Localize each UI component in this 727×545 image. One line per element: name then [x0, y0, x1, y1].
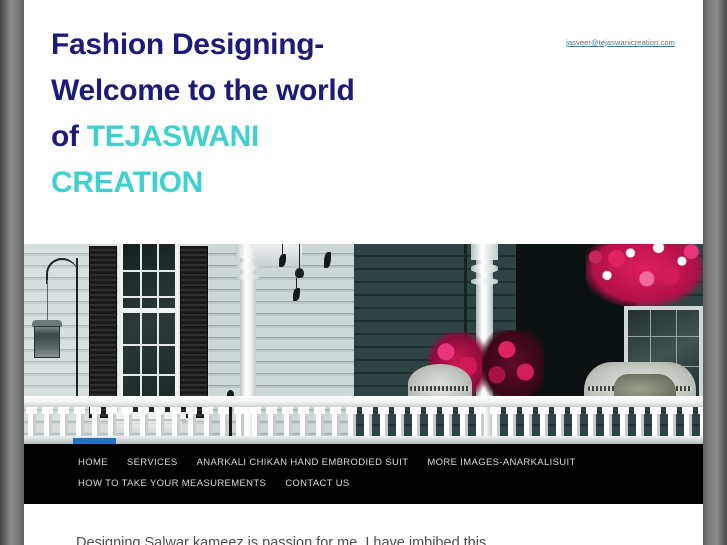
porch-column-left-ring-2 — [236, 274, 260, 280]
flower-pot-pink-center — [482, 330, 544, 400]
window-shutter-left — [89, 246, 117, 418]
main-navigation: HOME SERVICES ANARKALI CHIKAN HAND EMBRO… — [24, 444, 703, 504]
brand-name-creation: CREATION — [51, 166, 203, 199]
window-mullion-horizontal-2 — [123, 296, 175, 298]
page-title: Fashion Designing- Welcome to the world … — [51, 22, 471, 206]
lantern — [34, 326, 60, 358]
window-mullion-horizontal-1 — [123, 270, 175, 272]
hanging-flower-basket-petunias — [586, 244, 703, 306]
email-link[interactable]: jasveer@tejaswanicreation.com — [566, 38, 675, 47]
nav-item-more-images-anarkalisuit[interactable]: MORE IMAGES-ANARKALISUIT — [427, 452, 575, 473]
page-title-line-2: Welcome to the world — [51, 74, 354, 107]
wicker-chair-left-trim — [410, 386, 470, 391]
nav-item-services[interactable]: SERVICES — [127, 452, 178, 473]
porch-column-center-ring-1 — [471, 264, 498, 273]
nav-row-1: HOME SERVICES ANARKALI CHIKAN HAND EMBRO… — [24, 452, 703, 473]
window-meeting-rail — [123, 308, 175, 313]
porch-baluster-caps — [24, 407, 703, 414]
shepherd-hook-arm — [46, 258, 78, 284]
hero-banner-porch-photo — [24, 244, 703, 444]
nav-item-home[interactable]: HOME — [78, 452, 108, 473]
brand-name-tejaswani: TEJASWANI — [87, 120, 259, 153]
page-title-line-3-prefix: of — [51, 120, 87, 153]
porch-window-grid-h-1 — [628, 336, 699, 337]
window-shutter-right — [180, 246, 208, 418]
nav-item-anarkali-chikan-hand-embrodied-suit[interactable]: ANARKALI CHIKAN HAND EMBRODIED SUIT — [197, 452, 409, 473]
window-mullion-horizontal-4 — [123, 374, 175, 376]
site-container: jasveer@tejaswanicreation.com Fashion De… — [24, 0, 703, 545]
porch-railing-bottom — [24, 436, 703, 444]
page-gutter-right — [703, 0, 727, 545]
nav-row-2: HOW TO TAKE YOUR MEASUREMENTS CONTACT US — [24, 473, 703, 494]
porch-column-center-cap — [471, 244, 498, 260]
nav-item-contact-us[interactable]: CONTACT US — [285, 473, 349, 494]
porch-trim-bracket — [254, 244, 302, 266]
hanging-wire-3 — [296, 278, 297, 288]
porch-railing-top — [24, 396, 703, 407]
hanging-wire-1 — [282, 244, 283, 254]
main-content: Designing Salwar kameez is passion for m… — [24, 504, 703, 545]
site-header: jasveer@tejaswanicreation.com Fashion De… — [24, 0, 703, 244]
hanging-bell — [295, 268, 304, 278]
intro-paragraph: Designing Salwar kameez is passion for m… — [76, 530, 663, 545]
hero-accent-bar[interactable] — [73, 438, 116, 444]
hanging-wire-2 — [299, 244, 300, 268]
page-title-line-1: Fashion Designing- — [51, 28, 324, 61]
porch-column-center-ring-2 — [471, 278, 498, 285]
nav-item-how-to-take-your-measurements[interactable]: HOW TO TAKE YOUR MEASUREMENTS — [78, 473, 266, 494]
page-gutter-left — [0, 0, 24, 545]
window-mullion-horizontal-3 — [123, 344, 175, 346]
